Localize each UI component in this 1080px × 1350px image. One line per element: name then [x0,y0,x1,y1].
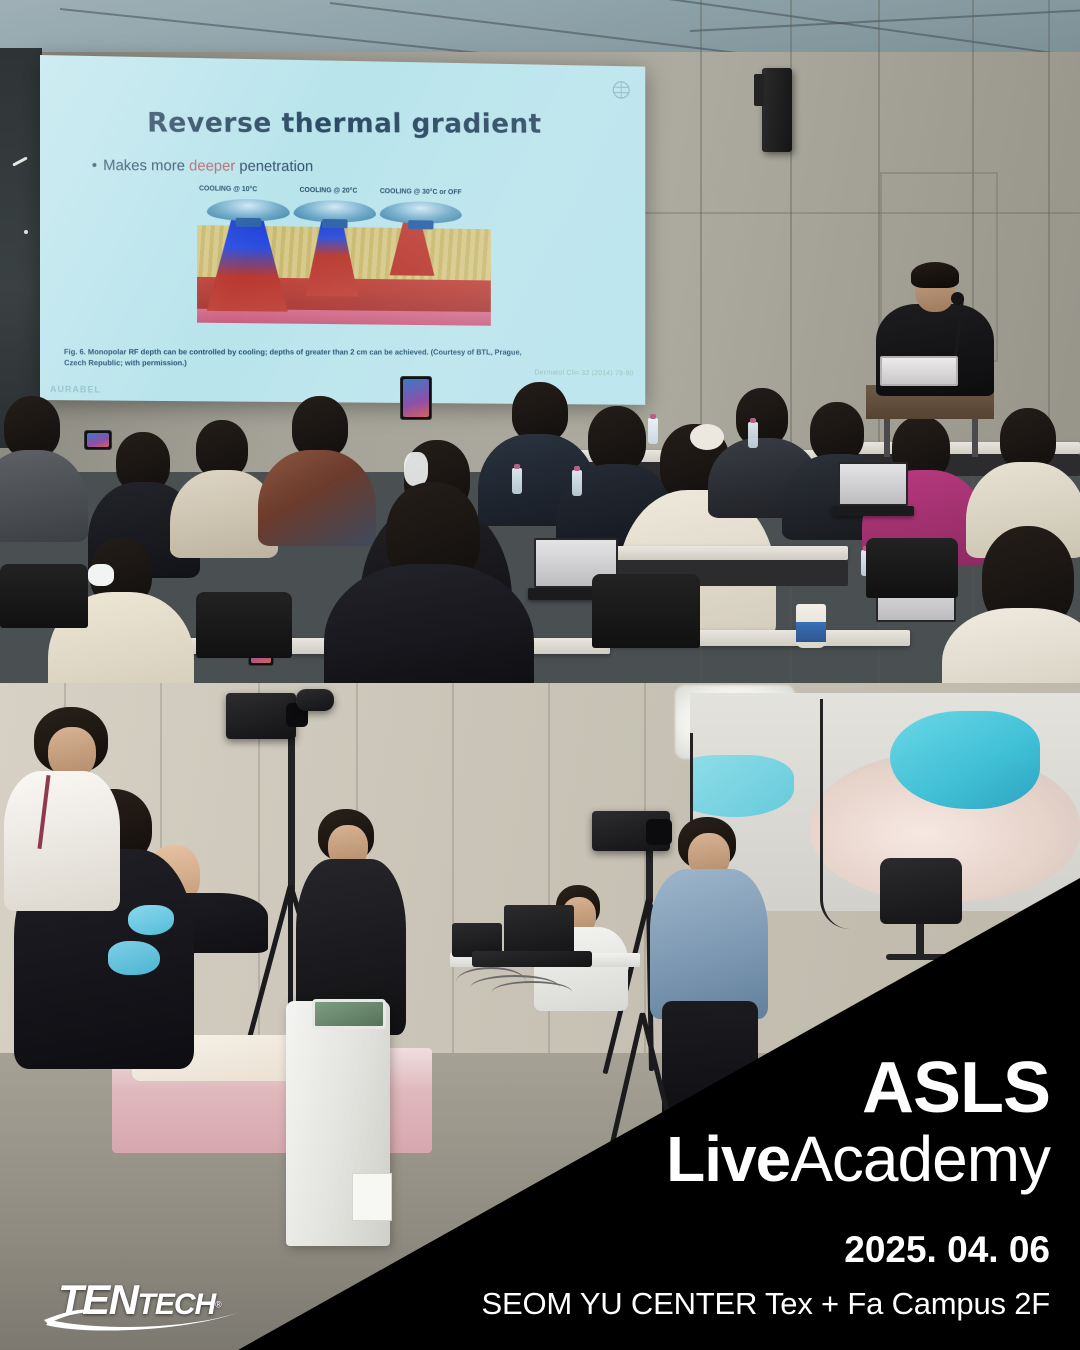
tentech-logo: TENTECH® [44,1276,276,1332]
assistant-body [4,771,120,911]
event-title-live-academy: LiveAcademy [666,1126,1050,1193]
lecture-hall-photo: Reverse thermal gradient •Makes more dee… [0,0,1080,683]
ceiling-speaker [762,68,792,152]
chair-back [196,592,292,658]
cable-bundle [492,981,572,1003]
slide-bullet: •Makes more deeper penetration [92,157,314,175]
laptop-base [832,506,914,516]
attendee-head [512,382,568,442]
attendee-head [810,402,864,462]
chair-back [592,574,700,648]
chair-back [880,858,962,924]
smartphone [84,430,112,450]
podium-leg [972,419,978,457]
face-mask [88,564,114,586]
slide-bullet-suffix: penetration [235,158,313,175]
attendee-body [942,608,1080,683]
machine-display [312,999,386,1029]
smartphone [400,376,432,420]
water-bottle [648,418,658,444]
diagram-applicator-0 [207,198,290,221]
slide-diagram: COOLING @ 10°C COOLING @ 20°C COOLING @ … [197,185,491,337]
figure-caption: Fig. 6. Monopolar RF depth can be contro… [64,346,526,368]
machine-label [352,1173,392,1221]
chair-back [866,538,958,598]
laptop-screen [838,462,908,506]
attendee-body [0,450,88,542]
drink-straw [512,468,522,494]
bullet-dot: • [92,157,97,174]
camera-handle [296,689,334,711]
attendee-body [258,450,376,546]
drink-cup [796,604,826,648]
diagram-muscle-layer [197,309,491,326]
water-bottle [748,422,758,448]
presenter-hair [911,262,959,288]
attendee-headband [404,452,428,486]
slide-bullet-prefix: Makes more [103,157,189,174]
doctor-gloved-hand [108,941,160,975]
attendee-head [4,396,60,458]
event-date: 2025. 04. 06 [844,1229,1050,1271]
tentech-swoosh-icon [44,1306,272,1332]
slide-bullet-highlight: deeper [189,158,235,175]
attendee-head [588,406,646,472]
equipment-rack [472,951,592,967]
title-live: Live [666,1123,790,1195]
phone-screen [403,379,429,417]
hanging-cable [820,699,850,929]
attendee-head [1000,408,1056,470]
diagram-label-2: COOLING @ 30°C or OFF [380,188,462,196]
diagram-applicator-2 [380,201,462,224]
title-academy: Academy [790,1123,1050,1195]
projection-screen: Reverse thermal gradient •Makes more dee… [40,55,645,405]
wall-seam [452,683,454,1063]
doctor-gloved-hand [128,905,174,935]
podium-leg [884,419,890,457]
cup-band [796,622,826,642]
chair-back [0,564,88,628]
audience-area [0,378,1080,683]
diagram-label-1: COOLING @ 20°C [300,187,358,195]
diagram-applicator-1 [294,200,376,223]
hair-scrunchie [690,424,724,450]
poster: Reverse thermal gradient •Makes more dee… [0,0,1080,1350]
slide-reference: Dermatol Clin 32 (2014) 79-90 [535,370,634,378]
wall-marker [24,230,28,234]
chair-stem [916,924,924,958]
slide-watermark-icon [611,80,632,106]
microphone-head [951,292,964,305]
water-bottle [572,470,582,496]
laptop-screen [504,905,574,957]
attendee-head [292,396,348,458]
phone-screen [87,433,109,447]
diagram-label-0: COOLING @ 10°C [199,185,257,193]
event-venue: SEOM YU CENTER Tex + Fa Campus 2F [481,1286,1050,1322]
presenter-laptop [880,356,958,386]
slide-title: Reverse thermal gradient [40,107,645,140]
event-title-asls: ASLS [862,1052,1050,1124]
